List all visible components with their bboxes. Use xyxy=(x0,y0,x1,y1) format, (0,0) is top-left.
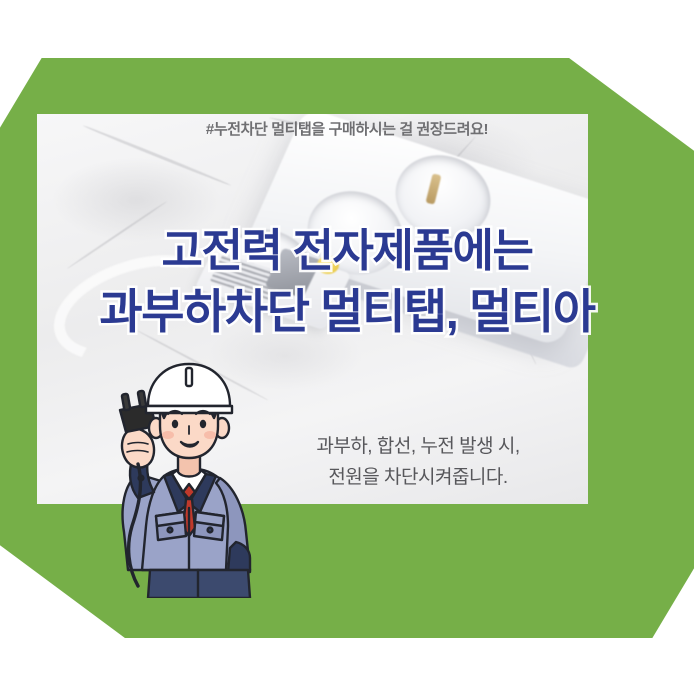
left-cheek xyxy=(162,431,174,439)
body-copy-line-2: 전원을 차단시켜줍니다. xyxy=(268,463,568,494)
hand xyxy=(122,429,154,468)
left-pocket-button xyxy=(168,528,173,533)
hashtag-text: #누전차단 멀티탭을 구매하시는 걸 권장드려요! xyxy=(0,118,694,139)
hard-hat-brim xyxy=(146,406,232,413)
body-copy-block: 과부하, 합선, 누전 발생 시, 전원을 차단시켜줍니다. xyxy=(268,432,568,494)
right-pocket-button xyxy=(208,528,213,533)
hard-hat-ridge xyxy=(186,368,192,386)
plug-prong xyxy=(138,391,147,408)
plug-prong xyxy=(122,394,131,411)
body-copy-line-1: 과부하, 합선, 누전 발생 시, xyxy=(268,432,568,463)
worker-illustration xyxy=(98,356,280,598)
poster-canvas: #누전차단 멀티탭을 구매하시는 걸 권장드려요! 고전력 전자제품에는 과부하… xyxy=(0,0,694,694)
breaker-test-button xyxy=(317,256,339,274)
right-eye xyxy=(200,420,206,428)
right-cheek xyxy=(204,431,216,439)
left-eye xyxy=(172,420,178,428)
